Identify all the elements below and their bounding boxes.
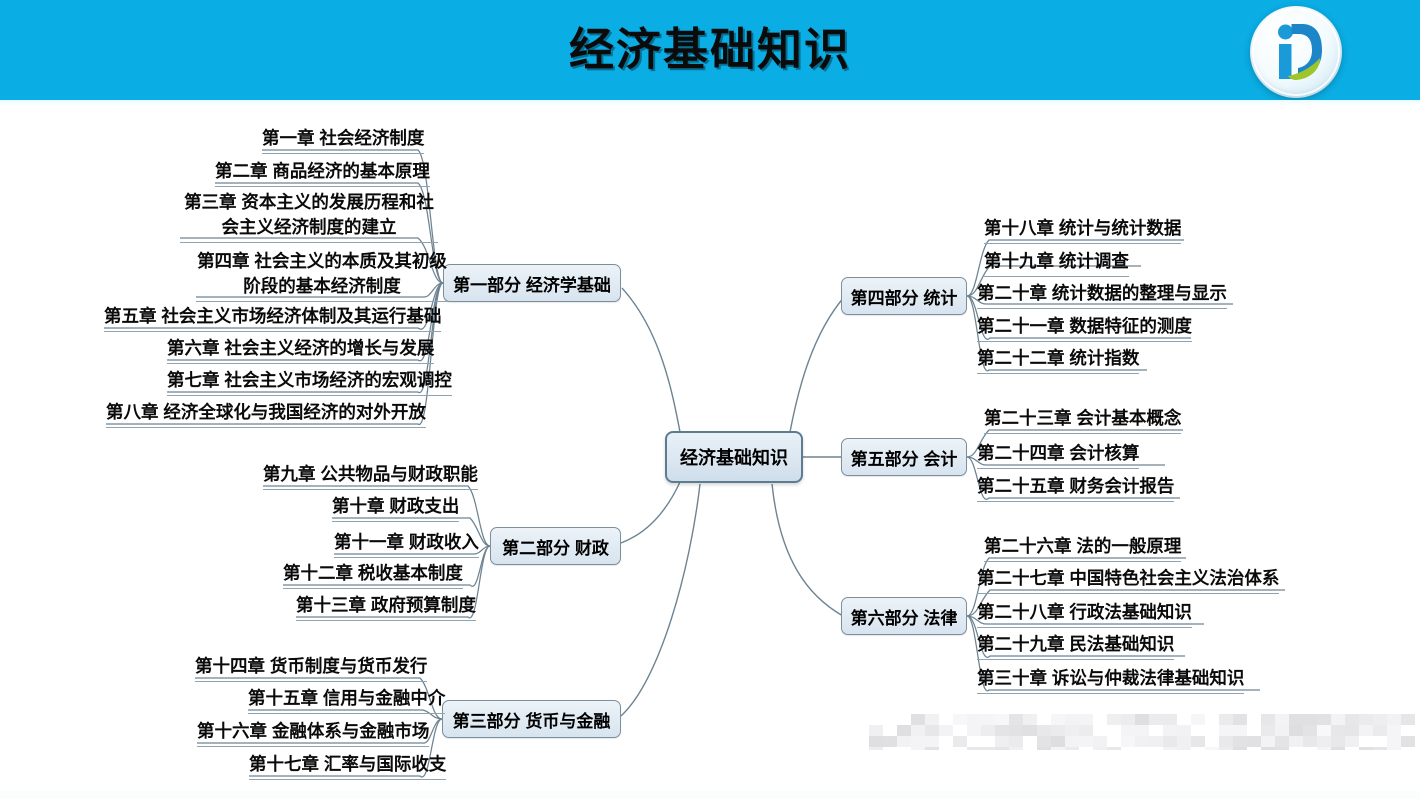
watermark-block (1401, 714, 1415, 725)
watermark-block (1177, 747, 1191, 750)
leaf-chapter-7[interactable]: 第七章 社会主义市场经济的宏观调控 (167, 368, 452, 396)
leaf-chapter-2[interactable]: 第二章 商品经济的基本原理 (215, 159, 430, 187)
watermark-block (1387, 725, 1401, 736)
watermark-block (1191, 714, 1205, 725)
leaf-chapter-19[interactable]: 第十九章 统计调查 (984, 249, 1129, 277)
watermark-block (1065, 725, 1079, 736)
watermark-block (1303, 736, 1317, 747)
watermark-block (1177, 736, 1191, 747)
watermark-block (1261, 747, 1275, 750)
watermark-block (995, 725, 1009, 736)
watermark-block (1219, 725, 1233, 736)
watermark-block (883, 736, 897, 747)
blurred-watermark (855, 708, 1415, 750)
watermark-block (1359, 725, 1373, 736)
mindmap-center-node[interactable]: 经济基础知识 (665, 431, 803, 483)
branch-node-part1[interactable]: 第一部分 经济学基础 (443, 264, 621, 302)
watermark-block (1051, 714, 1065, 725)
watermark-block (1233, 747, 1247, 750)
watermark-block (1317, 725, 1331, 736)
watermark-block (1135, 714, 1149, 725)
watermark-block (1065, 736, 1079, 747)
watermark-block (1135, 725, 1149, 736)
watermark-block (1331, 736, 1345, 747)
watermark-block (1261, 714, 1275, 725)
watermark-block (1163, 736, 1177, 747)
watermark-block (1219, 714, 1233, 725)
branch-label-part6: 第六部分 法律 (851, 604, 958, 629)
leaf-chapter-5[interactable]: 第五章 社会主义市场经济体制及其运行基础 (104, 304, 441, 332)
watermark-block (911, 736, 925, 747)
branch-node-part5[interactable]: 第五部分 会计 (841, 438, 967, 476)
leaf-chapter-12[interactable]: 第十二章 税收基本制度 (283, 561, 463, 589)
watermark-block (911, 747, 925, 750)
watermark-block (995, 736, 1009, 747)
watermark-block (953, 736, 967, 747)
leaf-chapter-17[interactable]: 第十七章 汇率与国际收支 (249, 752, 446, 780)
leaf-chapter-28[interactable]: 第二十八章 行政法基础知识 (977, 600, 1192, 628)
watermark-block (981, 747, 995, 750)
watermark-block (1261, 736, 1275, 747)
watermark-block (967, 714, 981, 725)
watermark-block (869, 747, 883, 750)
watermark-block (1121, 714, 1135, 725)
watermark-block (1023, 725, 1037, 736)
watermark-block (1219, 747, 1233, 750)
leaf-chapter-25[interactable]: 第二十五章 财务会计报告 (977, 474, 1174, 502)
watermark-block (1023, 714, 1037, 725)
page-header: 经济基础知识 (0, 0, 1420, 100)
watermark-block (1107, 714, 1121, 725)
branch-label-part2: 第二部分 财政 (502, 534, 609, 559)
watermark-block (1009, 736, 1023, 747)
watermark-block (1233, 714, 1247, 725)
watermark-block (925, 725, 939, 736)
watermark-block (1275, 747, 1289, 750)
watermark-block (897, 736, 911, 747)
leaf-chapter-1[interactable]: 第一章 社会经济制度 (262, 126, 424, 154)
watermark-block (1191, 736, 1205, 747)
watermark-block (1163, 714, 1177, 725)
leaf-chapter-20[interactable]: 第二十章 统计数据的整理与显示 (977, 281, 1227, 309)
watermark-block (1275, 736, 1289, 747)
watermark-block (1275, 725, 1289, 736)
watermark-block (1387, 736, 1401, 747)
watermark-block (1079, 725, 1093, 736)
branch-label-part1: 第一部分 经济学基础 (453, 271, 611, 296)
watermark-block (1345, 736, 1359, 747)
brand-logo-icon (1250, 6, 1342, 98)
watermark-block (1205, 747, 1219, 750)
watermark-block (869, 736, 883, 747)
center-node-label: 经济基础知识 (680, 444, 788, 470)
watermark-block (911, 725, 925, 736)
leaf-chapter-26[interactable]: 第二十六章 法的一般原理 (984, 534, 1181, 562)
watermark-block (1149, 714, 1163, 725)
watermark-block (1009, 725, 1023, 736)
leaf-chapter-16[interactable]: 第十六章 金融体系与金融市场 (197, 719, 429, 747)
watermark-block (1219, 736, 1233, 747)
leaf-chapter-15[interactable]: 第十五章 信用与金融中介 (248, 686, 445, 714)
watermark-block (1233, 736, 1247, 747)
watermark-block (1093, 747, 1107, 750)
watermark-block (981, 725, 995, 736)
watermark-block (911, 714, 925, 725)
watermark-block (995, 747, 1009, 750)
watermark-block (1331, 725, 1345, 736)
watermark-block (1163, 747, 1177, 750)
watermark-block (967, 747, 981, 750)
branch-label-part3: 第三部分 货币与金融 (453, 707, 611, 732)
watermark-block (1065, 714, 1079, 725)
watermark-block (1247, 736, 1261, 747)
watermark-block (1317, 736, 1331, 747)
watermark-block (1317, 747, 1331, 750)
branch-node-part4[interactable]: 第四部分 统计 (841, 277, 967, 315)
watermark-block (1135, 736, 1149, 747)
watermark-block (1303, 714, 1317, 725)
watermark-block (1009, 747, 1023, 750)
leaf-chapter-27[interactable]: 第二十七章 中国特色社会主义法治体系 (977, 566, 1279, 594)
watermark-block (1107, 747, 1121, 750)
leaf-chapter-3[interactable]: 第三章 资本主义的发展历程和社会主义经济制度的建立 (180, 190, 438, 243)
watermark-block (1289, 714, 1303, 725)
watermark-block (925, 747, 939, 750)
footer-strip (0, 791, 1420, 799)
leaf-chapter-29[interactable]: 第二十九章 民法基础知识 (977, 632, 1174, 660)
watermark-block (1373, 725, 1387, 736)
watermark-block (1177, 725, 1191, 736)
watermark-block (981, 714, 995, 725)
watermark-block (1373, 714, 1387, 725)
watermark-block (1037, 725, 1051, 736)
watermark-block (1289, 736, 1303, 747)
watermark-block (1261, 725, 1275, 736)
watermark-block (1387, 714, 1401, 725)
watermark-block (897, 725, 911, 736)
watermark-block (953, 714, 967, 725)
branch-node-part3[interactable]: 第三部分 货币与金融 (442, 700, 621, 738)
watermark-block (939, 725, 953, 736)
watermark-block (1037, 747, 1051, 750)
watermark-block (967, 725, 981, 736)
branch-label-part5: 第五部分 会计 (851, 445, 958, 470)
mindmap-canvas: 经济基础知识 (0, 0, 1420, 799)
watermark-block (1037, 736, 1051, 747)
branch-node-part2[interactable]: 第二部分 财政 (490, 527, 621, 565)
watermark-block (1303, 725, 1317, 736)
leaf-chapter-18[interactable]: 第十八章 统计与统计数据 (984, 216, 1181, 244)
watermark-block (925, 736, 939, 747)
watermark-block (1233, 725, 1247, 736)
leaf-chapter-22[interactable]: 第二十二章 统计指数 (977, 346, 1139, 374)
leaf-chapter-11[interactable]: 第十一章 财政收入 (334, 530, 479, 558)
watermark-block (1065, 747, 1079, 750)
watermark-block (1345, 714, 1359, 725)
watermark-block (1051, 736, 1065, 747)
watermark-block (1331, 747, 1345, 750)
watermark-block (1359, 747, 1373, 750)
watermark-block (1359, 714, 1373, 725)
watermark-block (1317, 714, 1331, 725)
leaf-chapter-9[interactable]: 第九章 公共物品与财政职能 (263, 462, 478, 490)
watermark-block (1289, 725, 1303, 736)
leaf-chapter-8[interactable]: 第八章 经济全球化与我国经济的对外开放 (106, 400, 426, 428)
leaf-chapter-13[interactable]: 第十三章 政府预算制度 (296, 593, 476, 621)
watermark-block (1275, 714, 1289, 725)
watermark-block (1373, 747, 1387, 750)
watermark-block (1163, 725, 1177, 736)
watermark-block (995, 714, 1009, 725)
watermark-block (925, 714, 939, 725)
watermark-block (1387, 747, 1401, 750)
watermark-block (1121, 725, 1135, 736)
leaf-chapter-24[interactable]: 第二十四章 会计核算 (977, 441, 1139, 469)
page-title: 经济基础知识 (0, 20, 1420, 80)
watermark-block (1079, 714, 1093, 725)
watermark-block (869, 725, 883, 736)
watermark-block (1401, 736, 1415, 747)
leaf-chapter-14[interactable]: 第十四章 货币制度与货币发行 (195, 654, 427, 682)
watermark-block (1079, 736, 1093, 747)
watermark-block (1051, 747, 1065, 750)
watermark-block (1331, 714, 1345, 725)
leaf-chapter-4[interactable]: 第四章 社会主义的本质及其初级阶段的基本经济制度 (196, 249, 448, 302)
watermark-block (1345, 725, 1359, 736)
leaf-chapter-30[interactable]: 第三十章 诉讼与仲裁法律基础知识 (977, 666, 1244, 694)
watermark-block (1149, 736, 1163, 747)
leaf-chapter-6[interactable]: 第六章 社会主义经济的增长与发展 (167, 336, 434, 364)
watermark-block (1051, 725, 1065, 736)
leaf-chapter-23[interactable]: 第二十三章 会计基本概念 (984, 406, 1181, 434)
leaf-chapter-21[interactable]: 第二十一章 数据特征的测度 (977, 314, 1192, 342)
branch-node-part6[interactable]: 第六部分 法律 (841, 597, 967, 635)
branch-label-part4: 第四部分 统计 (851, 284, 958, 309)
watermark-block (1121, 736, 1135, 747)
watermark-block (1093, 736, 1107, 747)
leaf-chapter-10[interactable]: 第十章 财政支出 (332, 494, 459, 522)
watermark-block (1009, 714, 1023, 725)
